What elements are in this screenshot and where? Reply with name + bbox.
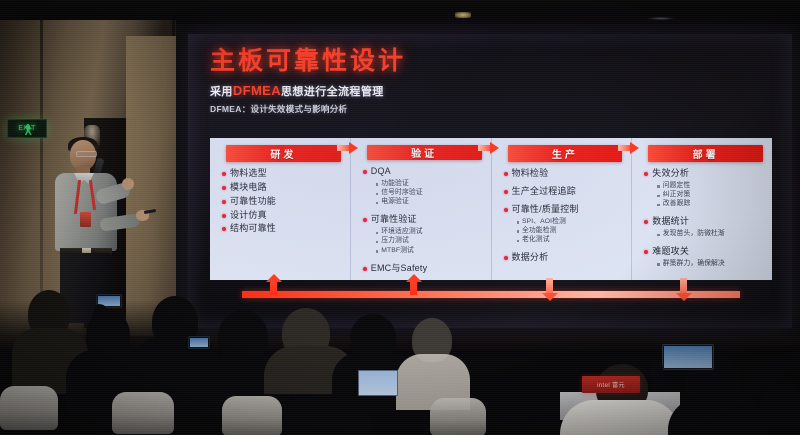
list-item-label: EMC与Safety xyxy=(371,263,428,273)
subtitle-suffix: 思想进行全流程管理 xyxy=(281,86,384,98)
sub-list-item: 群策群力，确保解决 xyxy=(657,260,767,268)
chair xyxy=(222,396,282,435)
camera-operator-body xyxy=(668,398,768,435)
sub-list-item: 信号时序验证 xyxy=(376,189,486,197)
list-item: 物料检验 xyxy=(504,168,627,178)
sub-list: 功能验证 信号时序验证 电源验证 xyxy=(376,180,486,206)
sub-list-item: 功能验证 xyxy=(376,180,486,188)
bullet-dot-icon xyxy=(504,208,508,212)
sub-bullet-icon xyxy=(517,221,520,224)
sub-list-item: 全功能检测 xyxy=(517,227,627,235)
sub-bullet-icon xyxy=(376,202,379,205)
sub-bullet-icon xyxy=(517,230,520,233)
list-item-label: 可靠性/质量控制 xyxy=(512,204,579,214)
sub-list-item: MTBF测试 xyxy=(376,247,486,255)
sub-bullet-icon xyxy=(657,185,660,188)
table-sign-label: intel 富元 xyxy=(597,380,625,389)
bullet-dot-icon xyxy=(504,190,508,194)
chair xyxy=(0,386,58,430)
list-item-label: 物料选型 xyxy=(230,168,267,178)
bullet-dot-icon xyxy=(504,256,508,260)
list-item: EMC与Safety xyxy=(363,263,486,273)
sub-list-item: 纠正对策 xyxy=(657,191,767,199)
column-header-label: 验证 xyxy=(411,145,437,160)
list-item: 难题攻关 xyxy=(644,246,767,256)
subtitle-prefix: 采用 xyxy=(210,86,233,98)
sub-list-item-label: 问题定性 xyxy=(663,182,691,190)
bullet-dot-icon xyxy=(644,250,648,254)
column-header: 生产 xyxy=(508,145,623,162)
sub-list-item-label: 全功能检测 xyxy=(522,227,556,235)
glasses-icon xyxy=(76,151,97,157)
list-item: 数据分析 xyxy=(504,252,627,262)
sub-list-item: 环境适应测试 xyxy=(376,228,486,236)
sub-bullet-icon xyxy=(376,232,379,235)
column-items: 物料选型 模块电路 可靠性功能 设计仿真 结构可靠性 xyxy=(216,168,345,237)
list-item-label: 难题攻关 xyxy=(652,246,689,256)
list-item-label: 数据统计 xyxy=(652,216,689,226)
projection-screen: 主板可靠性设计 采用DFMEA思想进行全流程管理 DFMEA：设计失效模式与影响… xyxy=(188,34,792,328)
emergency-exit-sign: EXIT xyxy=(7,119,47,138)
chair xyxy=(430,398,486,435)
list-item: 模块电路 xyxy=(222,182,345,192)
bullet-dot-icon xyxy=(222,227,226,231)
badge xyxy=(80,212,91,227)
list-item: 数据统计 xyxy=(644,216,767,226)
flow-column-verification: 验证 DQA 功能验证 信号时序验证 电源验证 可靠性验证 环境适应测试 压力测… xyxy=(351,138,492,280)
list-item-label: DQA xyxy=(371,166,391,176)
slide-title: 主板可靠性设计 xyxy=(210,48,772,74)
list-item-label: 可靠性功能 xyxy=(230,196,276,206)
sub-bullet-icon xyxy=(657,195,660,198)
sub-bullet-icon xyxy=(517,240,520,243)
bullet-dot-icon xyxy=(363,170,367,174)
sub-list: SPI、AOI检测 全功能检测 老化测试 xyxy=(517,218,627,244)
sub-bullet-icon xyxy=(376,241,379,244)
audience xyxy=(0,288,800,435)
list-item: 失效分析 xyxy=(644,168,767,178)
list-item: 可靠性功能 xyxy=(222,196,345,206)
sub-bullet-icon xyxy=(376,193,379,196)
chair xyxy=(112,392,174,434)
sub-list-item-label: SPI、AOI检测 xyxy=(522,218,566,226)
column-header-label: 研发 xyxy=(270,146,296,161)
list-item: 结构可靠性 xyxy=(222,223,345,233)
sub-list-item-label: 压力测试 xyxy=(381,237,409,245)
sub-bullet-icon xyxy=(657,263,660,266)
sub-bullet-icon xyxy=(657,204,660,207)
slide-subtitle-note: DFMEA：设计失效模式与影响分析 xyxy=(210,103,772,115)
list-item-label: 物料检验 xyxy=(512,168,549,178)
list-item-label: 失效分析 xyxy=(652,168,689,178)
slide-subtitle: 采用DFMEA思想进行全流程管理 xyxy=(210,83,772,99)
camera-device xyxy=(662,344,714,370)
column-header: 部署 xyxy=(648,145,763,162)
presenter-right-hand xyxy=(122,178,134,190)
bullet-dot-icon xyxy=(363,267,367,271)
bullet-dot-icon xyxy=(644,172,648,176)
sub-list-item: 电源验证 xyxy=(376,198,486,206)
bullet-dot-icon xyxy=(644,220,648,224)
column-items: DQA 功能验证 信号时序验证 电源验证 可靠性验证 环境适应测试 压力测试 M… xyxy=(357,166,486,276)
column-header-label: 生产 xyxy=(552,146,578,161)
flow-column-deployment: 部署 失效分析 问题定性 纠正对策 改善跟踪 数据统计 发现苗头，防微杜渐 xyxy=(632,138,772,280)
sub-list-item-label: 功能验证 xyxy=(381,180,409,188)
audience-member-white-shirt xyxy=(560,400,680,435)
sub-bullet-icon xyxy=(376,183,379,186)
flow-arrow-icon xyxy=(618,142,640,154)
list-item-label: 生产全过程追踪 xyxy=(512,186,576,196)
list-item-label: 可靠性验证 xyxy=(371,214,417,224)
flow-arrow-icon xyxy=(478,142,500,154)
ceiling-light-secondary xyxy=(648,17,674,20)
column-header: 研发 xyxy=(226,145,341,162)
list-item: 可靠性验证 xyxy=(363,214,486,224)
list-item: DQA xyxy=(363,166,486,176)
list-item: 可靠性/质量控制 xyxy=(504,204,627,214)
ceiling-light xyxy=(455,12,471,18)
bullet-dot-icon xyxy=(222,214,226,218)
sub-list-item: SPI、AOI检测 xyxy=(517,218,627,226)
column-header-label: 部署 xyxy=(693,146,719,161)
list-item-label: 数据分析 xyxy=(512,252,549,262)
sub-list-item-label: 环境适应测试 xyxy=(381,228,422,236)
sub-list-item: 压力测试 xyxy=(376,237,486,245)
sub-list: 问题定性 纠正对策 改善跟踪 xyxy=(657,182,767,208)
sub-list-item: 改善跟踪 xyxy=(657,200,767,208)
column-items: 失效分析 问题定性 纠正对策 改善跟踪 数据统计 发现苗头，防微杜渐 难题攻关 … xyxy=(638,168,767,272)
list-item: 物料选型 xyxy=(222,168,345,178)
sub-list-item-label: 改善跟踪 xyxy=(663,200,691,208)
audience-member xyxy=(760,384,800,430)
phone-screen xyxy=(188,336,210,349)
sub-list: 发现苗头，防微杜渐 xyxy=(657,230,767,238)
sub-bullet-icon xyxy=(657,234,660,237)
sub-list-item-label: 发现苗头，防微杜渐 xyxy=(663,230,725,238)
list-item-label: 结构可靠性 xyxy=(230,223,276,233)
sub-list: 群策群力，确保解决 xyxy=(657,260,767,268)
flow-arrow-icon xyxy=(337,142,359,154)
laptop-screen xyxy=(358,370,398,396)
bullet-dot-icon xyxy=(504,172,508,176)
sub-list-item-label: 信号时序验证 xyxy=(381,189,422,197)
presentation-photo-scene: EXIT 主板可靠性设计 采用DFMEA思想进行全流程管理 DFMEA：设计失效… xyxy=(0,0,800,435)
table-brand-sign: intel 富元 xyxy=(582,376,640,393)
sub-list-item-label: 老化测试 xyxy=(522,236,550,244)
subtitle-highlight: DFMEA xyxy=(233,83,281,98)
column-header: 验证 xyxy=(367,145,482,160)
sub-list-item-label: 电源验证 xyxy=(381,198,409,206)
flow-column-production: 生产 物料检验 生产全过程追踪 可靠性/质量控制 SPI、AOI检测 全功能检测… xyxy=(492,138,633,280)
sub-list-item: 老化测试 xyxy=(517,236,627,244)
bullet-dot-icon xyxy=(222,186,226,190)
list-item-label: 模块电路 xyxy=(230,182,267,192)
sub-list-item-label: 群策群力，确保解决 xyxy=(663,260,725,268)
bullet-dot-icon xyxy=(222,200,226,204)
bullet-dot-icon xyxy=(222,172,226,176)
flow-column-rd: 研发 物料选型 模块电路 可靠性功能 设计仿真 结构可靠性 xyxy=(210,138,351,280)
process-flow-table: 研发 物料选型 模块电路 可靠性功能 设计仿真 结构可靠性 验证 DQA xyxy=(210,138,772,280)
bullet-dot-icon xyxy=(363,218,367,222)
sub-list-item-label: MTBF测试 xyxy=(381,247,414,255)
column-items: 物料检验 生产全过程追踪 可靠性/质量控制 SPI、AOI检测 全功能检测 老化… xyxy=(498,168,627,266)
sub-list-item: 问题定性 xyxy=(657,182,767,190)
list-item: 设计仿真 xyxy=(222,210,345,220)
sub-bullet-icon xyxy=(376,250,379,253)
list-item-label: 设计仿真 xyxy=(230,210,267,220)
sub-list: 环境适应测试 压力测试 MTBF测试 xyxy=(376,228,486,254)
sub-list-item-label: 纠正对策 xyxy=(663,191,691,199)
sub-list-item: 发现苗头，防微杜渐 xyxy=(657,230,767,238)
list-item: 生产全过程追踪 xyxy=(504,186,627,196)
